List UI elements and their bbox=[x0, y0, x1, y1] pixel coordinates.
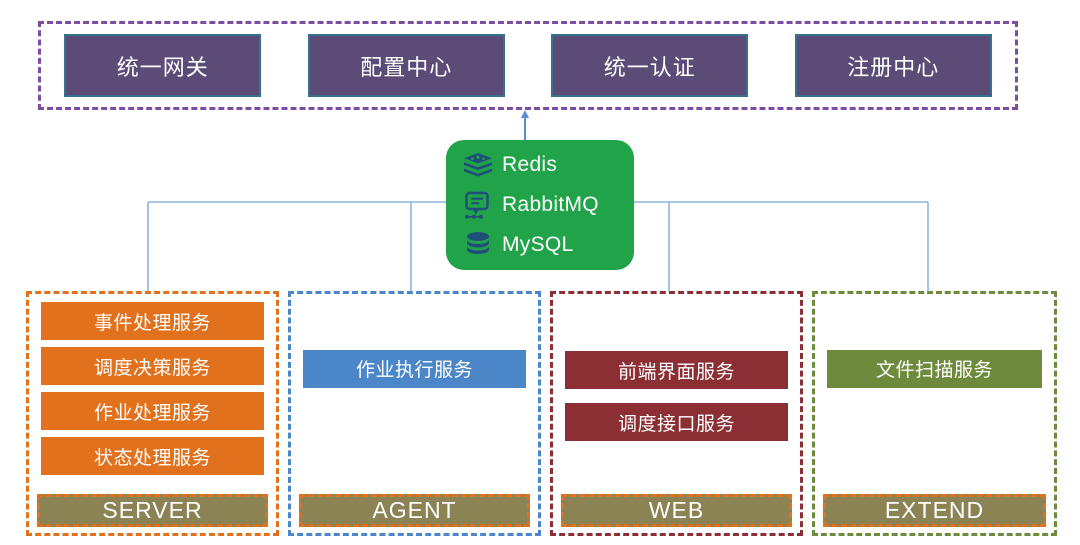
module-server: 事件处理服务 调度决策服务 作业处理服务 状态处理服务 SERVER bbox=[26, 291, 279, 536]
module-agent: 作业执行服务 AGENT bbox=[288, 291, 541, 536]
mysql-database-icon bbox=[460, 229, 496, 261]
service-label: 文件扫描服务 bbox=[876, 355, 993, 382]
middleware-item-label: MySQL bbox=[502, 233, 574, 257]
module-extend-services: 文件扫描服务 bbox=[815, 294, 1054, 494]
module-agent-footer-wrap: AGENT bbox=[291, 494, 538, 533]
module-web-services: 前端界面服务 调度接口服务 bbox=[553, 294, 800, 494]
module-footer-text: WEB bbox=[649, 497, 704, 524]
middleware-item-rabbitmq: RabbitMQ bbox=[460, 186, 634, 224]
middleware-item-mysql: MySQL bbox=[460, 226, 634, 264]
module-footer-label-server: SERVER bbox=[37, 494, 268, 527]
module-footer-label-agent: AGENT bbox=[299, 494, 530, 527]
module-server-footer-wrap: SERVER bbox=[29, 494, 276, 533]
module-footer-label-web: WEB bbox=[561, 494, 792, 527]
module-web-footer-wrap: WEB bbox=[553, 494, 800, 533]
module-footer-text: SERVER bbox=[102, 497, 202, 524]
service-box[interactable]: 前端界面服务 bbox=[565, 351, 788, 389]
rabbitmq-message-icon bbox=[460, 189, 496, 221]
module-server-services: 事件处理服务 调度决策服务 作业处理服务 状态处理服务 bbox=[29, 294, 276, 494]
platform-box-unified-auth[interactable]: 统一认证 bbox=[551, 34, 748, 97]
platform-box-label: 配置中心 bbox=[360, 50, 452, 82]
platform-layer-group: 统一网关 配置中心 统一认证 注册中心 bbox=[38, 21, 1018, 110]
service-label: 作业处理服务 bbox=[94, 398, 211, 425]
module-web: 前端界面服务 调度接口服务 WEB bbox=[550, 291, 803, 536]
service-box[interactable]: 文件扫描服务 bbox=[827, 350, 1042, 388]
service-box[interactable]: 作业处理服务 bbox=[41, 392, 264, 430]
platform-box-label: 统一网关 bbox=[117, 50, 209, 82]
platform-box-label: 注册中心 bbox=[847, 50, 939, 82]
module-agent-services: 作业执行服务 bbox=[291, 294, 538, 494]
module-footer-label-extend: EXTEND bbox=[823, 494, 1046, 527]
middleware-item-label: RabbitMQ bbox=[502, 193, 599, 217]
service-label: 调度接口服务 bbox=[618, 409, 735, 436]
service-box[interactable]: 事件处理服务 bbox=[41, 302, 264, 340]
module-extend: 文件扫描服务 EXTEND bbox=[812, 291, 1057, 536]
service-label: 状态处理服务 bbox=[94, 443, 211, 470]
service-box[interactable]: 调度接口服务 bbox=[565, 403, 788, 441]
service-box[interactable]: 状态处理服务 bbox=[41, 437, 264, 475]
arrow-shaft bbox=[524, 116, 526, 142]
module-footer-text: AGENT bbox=[372, 497, 456, 524]
middleware-item-label: Redis bbox=[502, 153, 557, 177]
middleware-card: Redis bbox=[446, 140, 634, 270]
module-extend-footer-wrap: EXTEND bbox=[815, 494, 1054, 533]
service-label: 前端界面服务 bbox=[618, 357, 735, 384]
platform-box-registry-center[interactable]: 注册中心 bbox=[795, 34, 992, 97]
service-label: 事件处理服务 bbox=[94, 308, 211, 335]
service-box[interactable]: 作业执行服务 bbox=[303, 350, 526, 388]
middleware-to-platform-arrow bbox=[521, 110, 529, 142]
platform-box-config-center[interactable]: 配置中心 bbox=[308, 34, 505, 97]
architecture-diagram: 统一网关 配置中心 统一认证 注册中心 bbox=[0, 0, 1080, 545]
platform-box-unified-gateway[interactable]: 统一网关 bbox=[64, 34, 261, 97]
redis-layers-icon bbox=[460, 149, 496, 181]
module-footer-text: EXTEND bbox=[885, 497, 984, 524]
middleware-item-redis: Redis bbox=[460, 146, 634, 184]
platform-box-label: 统一认证 bbox=[604, 50, 696, 82]
service-box[interactable]: 调度决策服务 bbox=[41, 347, 264, 385]
service-label: 作业执行服务 bbox=[356, 355, 473, 382]
service-label: 调度决策服务 bbox=[94, 353, 211, 380]
